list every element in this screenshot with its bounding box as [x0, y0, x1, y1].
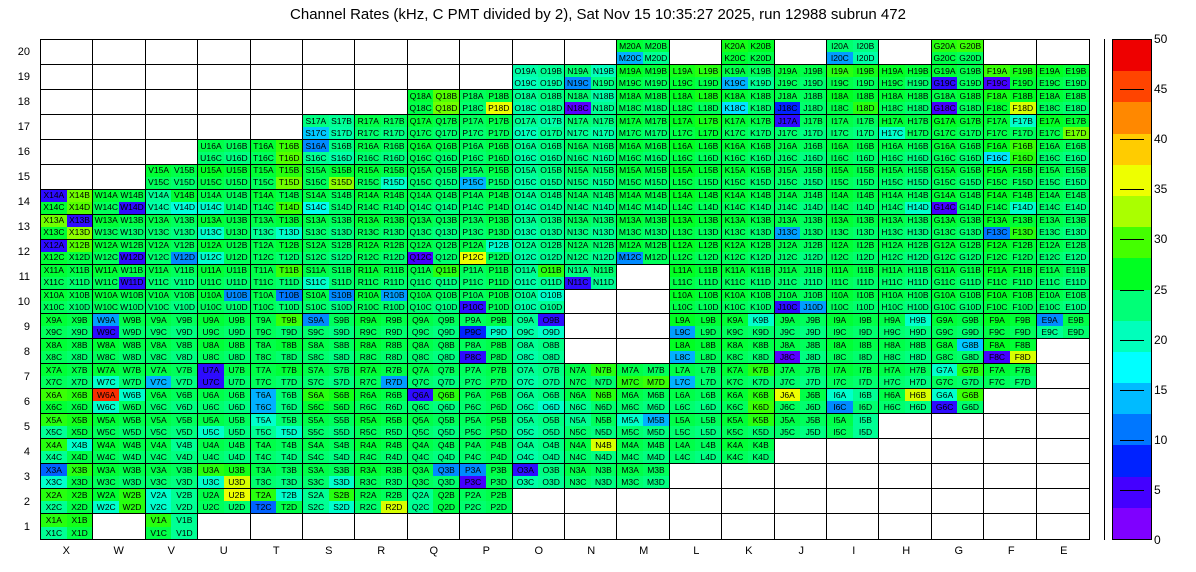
channel-E14D[interactable]: E14D	[1063, 202, 1089, 214]
channel-H7C[interactable]: H7C	[879, 376, 905, 388]
channel-H17D[interactable]: H17D	[905, 127, 931, 139]
channel-H16A[interactable]: H16A	[879, 140, 905, 152]
heatmap-cell-S5[interactable]: S5AS5BS5CS5D	[303, 414, 355, 439]
channel-J12B[interactable]: J12B	[800, 240, 826, 252]
channel-X3B[interactable]: X3B	[67, 464, 93, 476]
channel-J18D[interactable]: J18D	[800, 102, 826, 114]
channel-O4C[interactable]: O4C	[513, 451, 539, 463]
heatmap-cell-M4[interactable]: M4AM4BM4CM4D	[617, 439, 669, 464]
channel-U11D[interactable]: U11D	[224, 277, 250, 289]
heatmap-cell-M18[interactable]: M18AM18BM18CM18D	[617, 90, 669, 115]
channel-Q8B[interactable]: Q8B	[433, 339, 459, 351]
heatmap-cell-O8[interactable]: O8AO8BO8CO8D	[513, 339, 565, 364]
channel-G18B[interactable]: G18B	[957, 90, 983, 102]
channel-N4D[interactable]: N4D	[591, 451, 617, 463]
channel-V8C[interactable]: V8C	[146, 351, 172, 363]
heatmap-cell-U8[interactable]: U8AU8BU8CU8D	[198, 339, 250, 364]
channel-G9B[interactable]: G9B	[957, 314, 983, 326]
channel-N11C[interactable]: N11C	[565, 277, 591, 289]
channel-R14A[interactable]: R14A	[355, 190, 381, 202]
channel-Q9C[interactable]: Q9C	[408, 326, 434, 338]
channel-G16C[interactable]: G16C	[932, 152, 958, 164]
channel-R7C[interactable]: R7C	[355, 376, 381, 388]
channel-W2A[interactable]: W2A	[93, 489, 119, 501]
channel-M3B[interactable]: M3B	[643, 464, 669, 476]
heatmap-cell-U15[interactable]: U15AU15BU15CU15D	[198, 165, 250, 190]
channel-O15C[interactable]: O15C	[513, 177, 539, 189]
channel-N12A[interactable]: N12A	[565, 240, 591, 252]
channel-I5C[interactable]: I5C	[827, 426, 853, 438]
heatmap-cell-U14[interactable]: U14AU14BU14CU14D	[198, 190, 250, 215]
heatmap-cell-L6[interactable]: L6AL6BL6CL6D	[670, 389, 722, 414]
channel-O16C[interactable]: O16C	[513, 152, 539, 164]
heatmap-cell-F8[interactable]: F8AF8BF8CF8D	[984, 339, 1036, 364]
channel-G7A[interactable]: G7A	[932, 364, 958, 376]
channel-Q6A[interactable]: Q6A	[408, 389, 434, 401]
heatmap-cell-E17[interactable]: E17AE17BE17CE17D	[1037, 115, 1089, 140]
channel-T16C[interactable]: T16C	[251, 152, 277, 164]
channel-J8A[interactable]: J8A	[775, 339, 801, 351]
channel-V7A[interactable]: V7A	[146, 364, 172, 376]
channel-T12B[interactable]: T12B	[276, 240, 302, 252]
channel-E12C[interactable]: E12C	[1037, 252, 1063, 264]
channel-Q7C[interactable]: Q7C	[408, 376, 434, 388]
heatmap-cell-F12[interactable]: F12AF12BF12CF12D	[984, 240, 1036, 265]
channel-Q5A[interactable]: Q5A	[408, 414, 434, 426]
channel-T6C[interactable]: T6C	[251, 401, 277, 413]
channel-K7B[interactable]: K7B	[748, 364, 774, 376]
channel-O3B[interactable]: O3B	[538, 464, 564, 476]
channel-O9B[interactable]: O9B	[538, 314, 564, 326]
heatmap-cell-L19[interactable]: L19AL19BL19CL19D	[670, 65, 722, 90]
channel-H18A[interactable]: H18A	[879, 90, 905, 102]
channel-P9C[interactable]: P9C	[460, 326, 486, 338]
channel-W5A[interactable]: W5A	[93, 414, 119, 426]
channel-T13D[interactable]: T13D	[276, 227, 302, 239]
channel-I7A[interactable]: I7A	[827, 364, 853, 376]
heatmap-cell-P14[interactable]: P14AP14BP14CP14D	[460, 190, 512, 215]
heatmap-cell-T8[interactable]: T8AT8BT8CT8D	[251, 339, 303, 364]
heatmap-cell-W7[interactable]: W7AW7BW7CW7D	[93, 364, 145, 389]
channel-J5B[interactable]: J5B	[800, 414, 826, 426]
channel-I8C[interactable]: I8C	[827, 351, 853, 363]
channel-S7B[interactable]: S7B	[329, 364, 355, 376]
channel-J19D[interactable]: J19D	[800, 77, 826, 89]
channel-V8B[interactable]: V8B	[171, 339, 197, 351]
heatmap-cell-H7[interactable]: H7AH7BH7CH7D	[879, 364, 931, 389]
heatmap-cell-M3[interactable]: M3AM3BM3CM3D	[617, 464, 669, 489]
channel-F8A[interactable]: F8A	[984, 339, 1010, 351]
channel-R4A[interactable]: R4A	[355, 439, 381, 451]
channel-U15B[interactable]: U15B	[224, 165, 250, 177]
channel-M14B[interactable]: M14B	[643, 190, 669, 202]
channel-Q3A[interactable]: Q3A	[408, 464, 434, 476]
channel-L5B[interactable]: L5B	[695, 414, 721, 426]
channel-O10D[interactable]: O10D	[538, 301, 564, 313]
channel-O4D[interactable]: O4D	[538, 451, 564, 463]
channel-R12D[interactable]: R12D	[381, 252, 407, 264]
channel-G8D[interactable]: G8D	[957, 351, 983, 363]
heatmap-cell-Q18[interactable]: Q18AQ18BQ18CQ18D	[408, 90, 460, 115]
heatmap-cell-T6[interactable]: T6AT6BT6CT6D	[251, 389, 303, 414]
channel-K13D[interactable]: K13D	[748, 227, 774, 239]
channel-W7D[interactable]: W7D	[119, 376, 145, 388]
channel-U8C[interactable]: U8C	[198, 351, 224, 363]
heatmap-cell-G14[interactable]: G14AG14BG14CG14D	[932, 190, 984, 215]
channel-I11D[interactable]: I11D	[853, 277, 879, 289]
heatmap-cell-N14[interactable]: N14AN14BN14CN14D	[565, 190, 617, 215]
heatmap-cell-Q9[interactable]: Q9AQ9BQ9CQ9D	[408, 314, 460, 339]
channel-L6B[interactable]: L6B	[695, 389, 721, 401]
channel-R2C[interactable]: R2C	[355, 501, 381, 513]
channel-H19C[interactable]: H19C	[879, 77, 905, 89]
channel-U3C[interactable]: U3C	[198, 476, 224, 488]
channel-V4B[interactable]: V4B	[171, 439, 197, 451]
channel-L6D[interactable]: L6D	[695, 401, 721, 413]
channel-F18C[interactable]: F18C	[984, 102, 1010, 114]
heatmap-cell-H8[interactable]: H8AH8BH8CH8D	[879, 339, 931, 364]
channel-M18D[interactable]: M18D	[643, 102, 669, 114]
channel-P11D[interactable]: P11D	[486, 277, 512, 289]
channel-H12B[interactable]: H12B	[905, 240, 931, 252]
channel-Q9B[interactable]: Q9B	[433, 314, 459, 326]
channel-K13A[interactable]: K13A	[722, 215, 748, 227]
heatmap-cell-S4[interactable]: S4AS4BS4CS4D	[303, 439, 355, 464]
channel-R13A[interactable]: R13A	[355, 215, 381, 227]
channel-E12B[interactable]: E12B	[1063, 240, 1089, 252]
channel-O17A[interactable]: O17A	[513, 115, 539, 127]
channel-Q3D[interactable]: Q3D	[433, 476, 459, 488]
channel-I7D[interactable]: I7D	[853, 376, 879, 388]
channel-P5A[interactable]: P5A	[460, 414, 486, 426]
channel-J13A[interactable]: J13A	[775, 215, 801, 227]
channel-I13A[interactable]: I13A	[827, 215, 853, 227]
heatmap-cell-H10[interactable]: H10AH10BH10CH10D	[879, 290, 931, 315]
heatmap-cell-W14[interactable]: W14AW14BW14CW14D	[93, 190, 145, 215]
heatmap-cell-M7[interactable]: M7AM7BM7CM7D	[617, 364, 669, 389]
channel-M20D[interactable]: M20D	[643, 52, 669, 64]
channel-K19B[interactable]: K19B	[748, 65, 774, 77]
heatmap-cell-S17[interactable]: S17AS17BS17CS17D	[303, 115, 355, 140]
channel-L9C[interactable]: L9C	[670, 326, 696, 338]
channel-X14A[interactable]: X14A	[41, 190, 67, 202]
channel-S2B[interactable]: S2B	[329, 489, 355, 501]
channel-Q7D[interactable]: Q7D	[433, 376, 459, 388]
channel-X4A[interactable]: X4A	[41, 439, 67, 451]
channel-H19A[interactable]: H19A	[879, 65, 905, 77]
channel-V12B[interactable]: V12B	[171, 240, 197, 252]
channel-P11B[interactable]: P11B	[486, 265, 512, 277]
channel-K12A[interactable]: K12A	[722, 240, 748, 252]
channel-I19C[interactable]: I19C	[827, 77, 853, 89]
channel-U13A[interactable]: U13A	[198, 215, 224, 227]
channel-H17C[interactable]: H17C	[879, 127, 905, 139]
channel-X10B[interactable]: X10B	[67, 290, 93, 302]
channel-J11B[interactable]: J11B	[800, 265, 826, 277]
heatmap-cell-K18[interactable]: K18AK18BK18CK18D	[722, 90, 774, 115]
channel-V2C[interactable]: V2C	[146, 501, 172, 513]
channel-N19B[interactable]: N19B	[591, 65, 617, 77]
heatmap-cell-I7[interactable]: I7AI7BI7CI7D	[827, 364, 879, 389]
channel-O13C[interactable]: O13C	[513, 227, 539, 239]
channel-G17B[interactable]: G17B	[957, 115, 983, 127]
channel-F9C[interactable]: F9C	[984, 326, 1010, 338]
channel-W13C[interactable]: W13C	[93, 227, 119, 239]
channel-F17D[interactable]: F17D	[1010, 127, 1036, 139]
channel-H10C[interactable]: H10C	[879, 301, 905, 313]
heatmap-cell-Q5[interactable]: Q5AQ5BQ5CQ5D	[408, 414, 460, 439]
channel-P7D[interactable]: P7D	[486, 376, 512, 388]
channel-Q18B[interactable]: Q18B	[433, 90, 459, 102]
channel-F16D[interactable]: F16D	[1010, 152, 1036, 164]
channel-Q6C[interactable]: Q6C	[408, 401, 434, 413]
heatmap-cell-H15[interactable]: H15AH15BH15CH15D	[879, 165, 931, 190]
channel-K17A[interactable]: K17A	[722, 115, 748, 127]
channel-X1C[interactable]: X1C	[41, 527, 67, 539]
channel-S11A[interactable]: S11A	[303, 265, 329, 277]
channel-L13D[interactable]: L13D	[695, 227, 721, 239]
heatmap-cell-U2[interactable]: U2AU2BU2CU2D	[198, 489, 250, 514]
channel-X11C[interactable]: X11C	[41, 277, 67, 289]
channel-K15B[interactable]: K15B	[748, 165, 774, 177]
channel-M18B[interactable]: M18B	[643, 90, 669, 102]
heatmap-cell-G19[interactable]: G19AG19BG19CG19D	[932, 65, 984, 90]
channel-F19D[interactable]: F19D	[1010, 77, 1036, 89]
heatmap-cell-I6[interactable]: I6AI6BI6CI6D	[827, 389, 879, 414]
heatmap-cell-M16[interactable]: M16AM16BM16CM16D	[617, 140, 669, 165]
channel-J19C[interactable]: J19C	[775, 77, 801, 89]
channel-X1B[interactable]: X1B	[67, 514, 93, 526]
heatmap-cell-O16[interactable]: O16AO16BO16CO16D	[513, 140, 565, 165]
heatmap-cell-E16[interactable]: E16AE16BE16CE16D	[1037, 140, 1089, 165]
channel-J19A[interactable]: J19A	[775, 65, 801, 77]
channel-T8A[interactable]: T8A	[251, 339, 277, 351]
channel-G7C[interactable]: G7C	[932, 376, 958, 388]
channel-U6C[interactable]: U6C	[198, 401, 224, 413]
channel-J7A[interactable]: J7A	[775, 364, 801, 376]
channel-S7D[interactable]: S7D	[329, 376, 355, 388]
channel-K20B[interactable]: K20B	[748, 40, 774, 52]
channel-N19C[interactable]: N19C	[565, 77, 591, 89]
channel-N7A[interactable]: N7A	[565, 364, 591, 376]
channel-U7B[interactable]: U7B	[224, 364, 250, 376]
channel-K11D[interactable]: K11D	[748, 277, 774, 289]
heatmap-cell-O9[interactable]: O9AO9BO9CO9D	[513, 314, 565, 339]
channel-O7B[interactable]: O7B	[538, 364, 564, 376]
heatmap-cell-J10[interactable]: J10AJ10BJ10CJ10D	[775, 290, 827, 315]
channel-K15D[interactable]: K15D	[748, 177, 774, 189]
channel-N18B[interactable]: N18B	[591, 90, 617, 102]
channel-T5C[interactable]: T5C	[251, 426, 277, 438]
channel-O15A[interactable]: O15A	[513, 165, 539, 177]
channel-M20C[interactable]: M20C	[617, 52, 643, 64]
channel-N13D[interactable]: N13D	[591, 227, 617, 239]
channel-O18C[interactable]: O18C	[513, 102, 539, 114]
channel-J10A[interactable]: J10A	[775, 290, 801, 302]
channel-M19A[interactable]: M19A	[617, 65, 643, 77]
channel-N5C[interactable]: N5C	[565, 426, 591, 438]
channel-F10B[interactable]: F10B	[1010, 290, 1036, 302]
channel-H11B[interactable]: H11B	[905, 265, 931, 277]
channel-O12C[interactable]: O12C	[513, 252, 539, 264]
channel-L5C[interactable]: L5C	[670, 426, 696, 438]
channel-E15D[interactable]: E15D	[1063, 177, 1089, 189]
channel-W11B[interactable]: W11B	[119, 265, 145, 277]
channel-P12D[interactable]: P12D	[486, 252, 512, 264]
channel-K9C[interactable]: K9C	[722, 326, 748, 338]
heatmap-cell-X8[interactable]: X8AX8BX8CX8D	[41, 339, 93, 364]
channel-F7C[interactable]: F7C	[984, 376, 1010, 388]
heatmap-cell-S2[interactable]: S2AS2BS2CS2D	[303, 489, 355, 514]
heatmap-cell-F14[interactable]: F14AF14BF14CF14D	[984, 190, 1036, 215]
heatmap-cell-F17[interactable]: F17AF17BF17CF17D	[984, 115, 1036, 140]
heatmap-cell-F16[interactable]: F16AF16BF16CF16D	[984, 140, 1036, 165]
channel-X12C[interactable]: X12C	[41, 252, 67, 264]
heatmap-cell-T12[interactable]: T12AT12BT12CT12D	[251, 240, 303, 265]
channel-K11A[interactable]: K11A	[722, 265, 748, 277]
channel-J8B[interactable]: J8B	[800, 339, 826, 351]
channel-M15D[interactable]: M15D	[643, 177, 669, 189]
channel-W3B[interactable]: W3B	[119, 464, 145, 476]
channel-H9A[interactable]: H9A	[879, 314, 905, 326]
channel-X5C[interactable]: X5C	[41, 426, 67, 438]
channel-J14D[interactable]: J14D	[800, 202, 826, 214]
heatmap-cell-V15[interactable]: V15AV15BV15CV15D	[146, 165, 198, 190]
heatmap-cell-W6[interactable]: W6AW6BW6CW6D	[93, 389, 145, 414]
channel-M13A[interactable]: M13A	[617, 215, 643, 227]
channel-H8A[interactable]: H8A	[879, 339, 905, 351]
channel-U3A[interactable]: U3A	[198, 464, 224, 476]
channel-V11D[interactable]: V11D	[171, 277, 197, 289]
channel-X9B[interactable]: X9B	[67, 314, 93, 326]
channel-S3C[interactable]: S3C	[303, 476, 329, 488]
heatmap-cell-G12[interactable]: G12AG12BG12CG12D	[932, 240, 984, 265]
channel-Q12A[interactable]: Q12A	[408, 240, 434, 252]
heatmap-cell-U16[interactable]: U16AU16BU16CU16D	[198, 140, 250, 165]
channel-O12A[interactable]: O12A	[513, 240, 539, 252]
channel-R12A[interactable]: R12A	[355, 240, 381, 252]
heatmap-cell-K19[interactable]: K19AK19BK19CK19D	[722, 65, 774, 90]
channel-N5B[interactable]: N5B	[591, 414, 617, 426]
channel-V5C[interactable]: V5C	[146, 426, 172, 438]
heatmap-cell-O6[interactable]: O6AO6BO6CO6D	[513, 389, 565, 414]
channel-E12D[interactable]: E12D	[1063, 252, 1089, 264]
channel-U5D[interactable]: U5D	[224, 426, 250, 438]
channel-P18A[interactable]: P18A	[460, 90, 486, 102]
heatmap-cell-W5[interactable]: W5AW5BW5CW5D	[93, 414, 145, 439]
channel-N3B[interactable]: N3B	[591, 464, 617, 476]
channel-S4D[interactable]: S4D	[329, 451, 355, 463]
heatmap-cell-Q17[interactable]: Q17AQ17BQ17CQ17D	[408, 115, 460, 140]
heatmap-cell-K7[interactable]: K7AK7BK7CK7D	[722, 364, 774, 389]
channel-E11A[interactable]: E11A	[1037, 265, 1063, 277]
channel-X2C[interactable]: X2C	[41, 501, 67, 513]
channel-Q11B[interactable]: Q11B	[433, 265, 459, 277]
channel-H11A[interactable]: H11A	[879, 265, 905, 277]
channel-M13B[interactable]: M13B	[643, 215, 669, 227]
channel-Q3B[interactable]: Q3B	[433, 464, 459, 476]
heatmap-cell-I15[interactable]: I15AI15BI15CI15D	[827, 165, 879, 190]
channel-O14A[interactable]: O14A	[513, 190, 539, 202]
heatmap-cell-F9[interactable]: F9AF9BF9CF9D	[984, 314, 1036, 339]
channel-F16B[interactable]: F16B	[1010, 140, 1036, 152]
heatmap-cell-M17[interactable]: M17AM17BM17CM17D	[617, 115, 669, 140]
channel-I5A[interactable]: I5A	[827, 414, 853, 426]
channel-E10A[interactable]: E10A	[1037, 290, 1063, 302]
heatmap-cell-O10[interactable]: O10AO10BO10CO10D	[513, 290, 565, 315]
heatmap-cell-K13[interactable]: K13AK13BK13CK13D	[722, 215, 774, 240]
channel-I6A[interactable]: I6A	[827, 389, 853, 401]
heatmap-cell-K5[interactable]: K5AK5BK5CK5D	[722, 414, 774, 439]
channel-V15A[interactable]: V15A	[146, 165, 172, 177]
channel-H14C[interactable]: H14C	[879, 202, 905, 214]
channel-V10B[interactable]: V10B	[171, 290, 197, 302]
channel-U4D[interactable]: U4D	[224, 451, 250, 463]
channel-Q5C[interactable]: Q5C	[408, 426, 434, 438]
channel-W12C[interactable]: W12C	[93, 252, 119, 264]
channel-X4C[interactable]: X4C	[41, 451, 67, 463]
channel-L15A[interactable]: L15A	[670, 165, 696, 177]
heatmap-cell-K10[interactable]: K10AK10BK10CK10D	[722, 290, 774, 315]
channel-R12B[interactable]: R12B	[381, 240, 407, 252]
channel-M5D[interactable]: M5D	[643, 426, 669, 438]
heatmap-cell-W9[interactable]: W9AW9BW9CW9D	[93, 314, 145, 339]
channel-Q15D[interactable]: Q15D	[433, 177, 459, 189]
channel-V10A[interactable]: V10A	[146, 290, 172, 302]
channel-M12B[interactable]: M12B	[643, 240, 669, 252]
channel-R16A[interactable]: R16A	[355, 140, 381, 152]
channel-X8B[interactable]: X8B	[67, 339, 93, 351]
channel-J5A[interactable]: J5A	[775, 414, 801, 426]
heatmap-cell-O13[interactable]: O13AO13BO13CO13D	[513, 215, 565, 240]
heatmap-cell-L8[interactable]: L8AL8BL8CL8D	[670, 339, 722, 364]
channel-Q16B[interactable]: Q16B	[433, 140, 459, 152]
channel-I15B[interactable]: I15B	[853, 165, 879, 177]
channel-E11B[interactable]: E11B	[1063, 265, 1089, 277]
channel-R14D[interactable]: R14D	[381, 202, 407, 214]
heatmap-cell-X10[interactable]: X10AX10BX10CX10D	[41, 290, 93, 315]
channel-G19D[interactable]: G19D	[957, 77, 983, 89]
channel-W7C[interactable]: W7C	[93, 376, 119, 388]
channel-R9B[interactable]: R9B	[381, 314, 407, 326]
channel-F14C[interactable]: F14C	[984, 202, 1010, 214]
channel-J18C[interactable]: J18C	[775, 102, 801, 114]
channel-V6C[interactable]: V6C	[146, 401, 172, 413]
heatmap-cell-J19[interactable]: J19AJ19BJ19CJ19D	[775, 65, 827, 90]
channel-F14D[interactable]: F14D	[1010, 202, 1036, 214]
channel-S16D[interactable]: S16D	[329, 152, 355, 164]
channel-X5B[interactable]: X5B	[67, 414, 93, 426]
channel-P18D[interactable]: P18D	[486, 102, 512, 114]
channel-E17C[interactable]: E17C	[1037, 127, 1063, 139]
channel-H19B[interactable]: H19B	[905, 65, 931, 77]
heatmap-cell-O15[interactable]: O15AO15BO15CO15D	[513, 165, 565, 190]
channel-G14C[interactable]: G14C	[932, 202, 958, 214]
heatmap-cell-F19[interactable]: F19AF19BF19CF19D	[984, 65, 1036, 90]
channel-R2D[interactable]: R2D	[381, 501, 407, 513]
heatmap-cell-K20[interactable]: K20AK20BK20CK20D	[722, 40, 774, 65]
channel-J12A[interactable]: J12A	[775, 240, 801, 252]
channel-U2D[interactable]: U2D	[224, 501, 250, 513]
channel-G13A[interactable]: G13A	[932, 215, 958, 227]
channel-V14B[interactable]: V14B	[171, 190, 197, 202]
channel-P7A[interactable]: P7A	[460, 364, 486, 376]
channel-H18D[interactable]: H18D	[905, 102, 931, 114]
channel-F15D[interactable]: F15D	[1010, 177, 1036, 189]
channel-L19B[interactable]: L19B	[695, 65, 721, 77]
channel-P17A[interactable]: P17A	[460, 115, 486, 127]
heatmap-cell-E10[interactable]: E10AE10BE10CE10D	[1037, 290, 1089, 315]
